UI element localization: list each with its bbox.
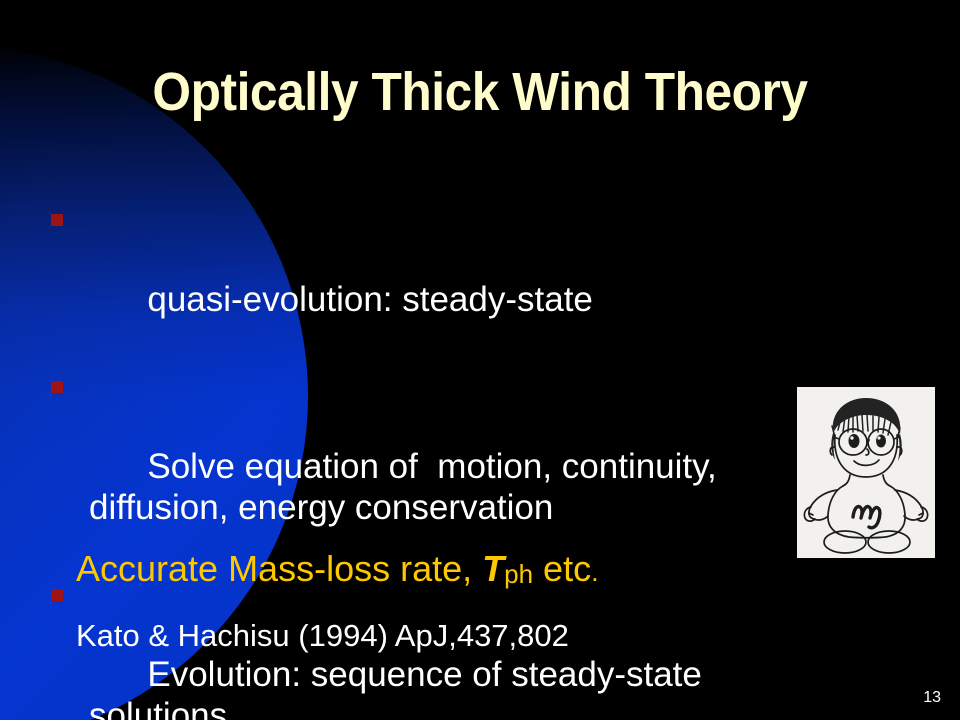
citation-reference: Kato & Hachisu (1994) ApJ,437,802 [76,617,569,655]
result-period: . [591,557,599,587]
bullet-item-1: quasi-evolution: steady-state [46,197,806,361]
temperature-symbol: T [482,548,504,589]
bullet-item-3-label: Evolution: sequence of steady-state solu… [89,655,712,720]
slide-title: Optically Thick Wind Theory [38,64,921,121]
slide-page-number: 13 [923,689,941,707]
result-highlight-line: Accurate Mass-loss rate, Tph etc. [76,548,599,595]
cartoon-drawing [797,387,935,558]
square-bullet-icon [51,589,63,601]
result-prefix: Accurate Mass-loss rate, [76,548,482,589]
result-suffix: etc [533,548,591,589]
presentation-slide: Optically Thick Wind Theory quasi-evolut… [0,0,960,720]
bullet-item-1-label: quasi-evolution: steady-state [147,280,593,319]
square-bullet-icon [51,214,63,226]
bullet-item-2-label: Solve equation of motion, continuity, di… [89,447,727,527]
square-bullet-icon [51,381,63,393]
cartoon-portrait-image [797,387,935,558]
temperature-subscript: ph [504,559,533,589]
bullet-item-2: Solve equation of motion, continuity, di… [46,364,806,569]
